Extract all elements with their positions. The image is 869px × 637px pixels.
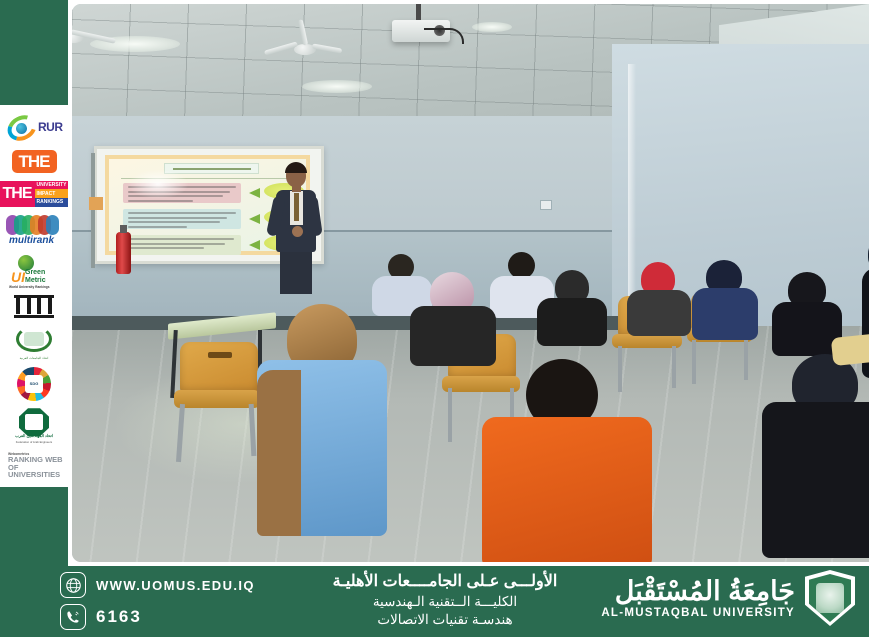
phone-number[interactable]: 6163	[96, 607, 142, 627]
greenmetric-caption: World University Rankings	[9, 285, 50, 289]
webometrics-line2: OF UNIVERSITIES	[8, 464, 63, 480]
greenmetric-line2: Metric	[25, 277, 46, 284]
the-impact-rankings-icon: THE UNIVERSITY IMPACT RANKINGS	[0, 181, 69, 207]
student	[410, 272, 496, 362]
website-url[interactable]: WWW.UOMUS.EDU.IQ	[96, 578, 255, 593]
website-row[interactable]: WWW.UOMUS.EDU.IQ	[60, 572, 255, 598]
tagline-line-2: الكليـــة الــتقنية الـهندسية	[290, 593, 600, 611]
the-impact-line2: IMPACT	[35, 189, 69, 198]
u-multirank-icon: multirank	[5, 214, 63, 248]
webometrics-icon: Webometrics RANKING WEB OF UNIVERSITIES	[5, 452, 63, 480]
accreditation-badge-panel: RUR THE THE UNIVERSITY IMPACT RANKINGS	[0, 105, 68, 487]
classroom-chair	[172, 342, 262, 462]
ceiling-light	[302, 80, 372, 93]
greenmetric-ui-label: UI	[11, 269, 25, 285]
badge-webometrics: Webometrics RANKING WEB OF UNIVERSITIES	[5, 452, 63, 480]
arab-universities-caption: اتحاد الجامعات العربية	[11, 356, 57, 360]
ui-greenmetric-icon: UI Green Metric World University Ranking…	[5, 255, 63, 287]
ceiling-light	[472, 22, 512, 32]
slide-arrow-icon	[249, 214, 260, 224]
multirank-label: multirank	[9, 235, 54, 246]
rur-ranking-icon: RUR	[5, 113, 63, 143]
student	[692, 260, 758, 336]
presenter	[268, 164, 324, 294]
badge-ui-greenmetric: UI Green Metric World University Ranking…	[5, 255, 63, 287]
student	[537, 270, 607, 340]
photo-frame	[68, 0, 869, 566]
contact-block: WWW.UOMUS.EDU.IQ 6163	[60, 572, 255, 636]
projector-cable	[424, 28, 464, 44]
tagline-line-1: الأولـــى عـلى الجامــــعات الأهليـة	[290, 571, 600, 593]
badge-the: THE	[5, 150, 63, 173]
arab-engineers-caption-en: Federation of Arab Engineers	[11, 440, 57, 444]
badge-arab-engineers: اتحاد المهندسين العرب Federation of Arab…	[5, 408, 63, 444]
wall-outlet	[540, 200, 552, 210]
university-brand: جَامِعَةُ المُسْتَقْبَل AL-MUSTAQBAL UNI…	[601, 570, 855, 626]
arab-engineers-caption-ar: اتحاد المهندسين العرب	[11, 433, 57, 438]
phone-icon	[60, 604, 86, 630]
brand-name-english: AL-MUSTAQBAL UNIVERSITY	[601, 607, 795, 619]
badge-rur: RUR	[5, 113, 63, 143]
poster-root: RUR THE THE UNIVERSITY IMPACT RANKINGS	[0, 0, 869, 637]
classical-pillars-icon	[14, 295, 54, 318]
sdg-label: SDG	[25, 375, 43, 393]
arabic-tagline-block: الأولـــى عـلى الجامــــعات الأهليـة الك…	[290, 571, 600, 629]
federation-arab-engineers-icon: اتحاد المهندسين العرب Federation of Arab…	[11, 408, 57, 444]
ceiling-fan	[72, 32, 84, 43]
student	[482, 359, 652, 562]
ceiling-fan	[294, 44, 316, 55]
rur-label: RUR	[38, 120, 63, 134]
student	[627, 262, 691, 332]
fire-extinguisher	[116, 232, 131, 274]
slide-text-row	[123, 209, 241, 229]
badge-accreditation	[5, 295, 63, 318]
times-higher-education-icon: THE	[12, 150, 57, 173]
slide-arrow-icon	[249, 188, 260, 198]
sustainable-development-goals-icon: SDG	[17, 367, 51, 401]
badge-the-impact: THE UNIVERSITY IMPACT RANKINGS	[5, 181, 63, 207]
globe-www-icon	[60, 572, 86, 598]
phone-row[interactable]: 6163	[60, 604, 255, 630]
projector-glare	[127, 169, 189, 199]
slide-arrow-icon	[249, 240, 260, 250]
classroom-lecture-photo	[72, 4, 869, 562]
slide-text-row	[123, 235, 241, 255]
the-impact-label: THE	[0, 181, 35, 207]
badge-sdg: SDG	[5, 367, 63, 401]
the-impact-line1: UNIVERSITY	[35, 181, 69, 190]
brand-name-arabic: جَامِعَةُ المُسْتَقْبَل	[601, 577, 795, 607]
university-crest-icon	[805, 570, 855, 626]
the-impact-line3: RANKINGS	[35, 198, 69, 207]
association-arab-universities-icon: اتحاد الجامعات العربية	[11, 325, 57, 359]
student	[257, 304, 387, 534]
footer: WWW.UOMUS.EDU.IQ 6163 الأولـــى عـلى الج…	[0, 566, 869, 637]
badge-arab-universities: اتحاد الجامعات العربية	[5, 325, 63, 359]
tagline-line-3: هندسـة تقنيات الاتصالات	[290, 611, 600, 629]
desk-surface	[832, 334, 869, 394]
badge-multirank: multirank	[5, 214, 63, 248]
greenmetric-line1: Green	[25, 269, 46, 276]
